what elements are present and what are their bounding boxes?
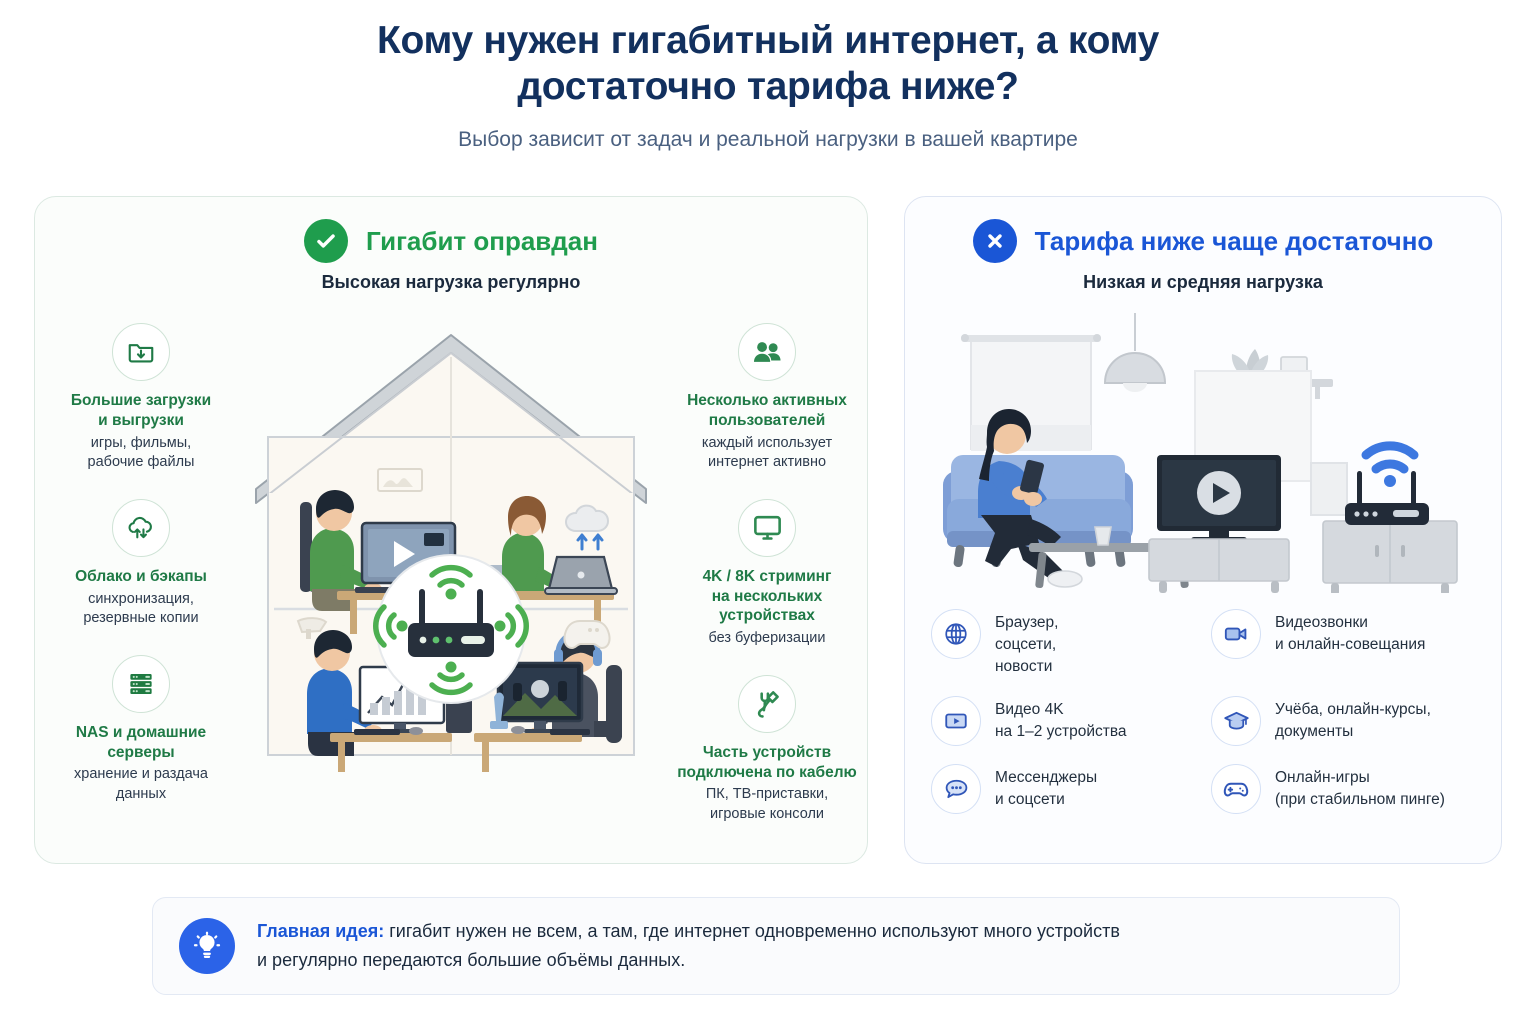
gamepad-icon — [1211, 764, 1261, 814]
feature-title: NAS и домашниесерверы — [43, 723, 239, 763]
monitor-icon — [738, 499, 796, 557]
feature-desc: синхронизация,резервные копии — [43, 590, 239, 629]
chat-bubble-icon — [931, 764, 981, 814]
feature-title: Облако и бэкапы — [43, 567, 239, 587]
item-video-calls: Видеозвонкии онлайн-совещания — [1211, 609, 1477, 678]
key-idea-callout: Главная идея: гигабит нужен не всем, а т… — [152, 897, 1400, 995]
left-panel-title: Гигабит оправдан — [366, 226, 598, 257]
folder-download-icon — [112, 323, 170, 381]
video-play-icon — [931, 696, 981, 746]
left-panel-header: Гигабит оправдан — [35, 197, 867, 263]
feature-desc: каждый используетинтернет активно — [669, 434, 865, 473]
item-label: Видео 4Kна 1–2 устройства — [995, 696, 1127, 743]
item-label: Онлайн-игры(при стабильном пинге) — [1275, 764, 1445, 811]
server-stack-icon — [112, 655, 170, 713]
item-browser-social-news: Браузер,соцсети,новости — [931, 609, 1197, 678]
lightbulb-icon — [179, 918, 235, 974]
left-panel-body: Большие загрузкии выгрузки игры, фильмы,… — [35, 309, 867, 869]
item-label: Учёба, онлайн-курсы,документы — [1275, 696, 1431, 743]
item-label: Браузер,соцсети,новости — [995, 609, 1058, 678]
cross-circle-icon — [973, 219, 1017, 263]
ethernet-cable-icon — [738, 675, 796, 733]
feature-desc: хранение и раздачаданных — [43, 765, 239, 804]
left-features-column: Большие загрузкии выгрузки игры, фильмы,… — [43, 309, 239, 869]
graduation-cap-icon — [1211, 696, 1261, 746]
feature-wired-devices: Часть устройствподключена по кабелю ПК, … — [669, 675, 865, 825]
right-panel-header: Тарифа ниже чаще достаточно — [905, 197, 1501, 263]
key-idea-label: Главная идея: — [257, 921, 384, 941]
feature-cloud-backups: Облако и бэкапы синхронизация,резервные … — [43, 499, 239, 629]
left-panel-subtitle: Высокая нагрузка регулярно — [35, 272, 867, 293]
right-panel-title: Тарифа ниже чаще достаточно — [1035, 226, 1434, 257]
feature-desc: ПК, ТВ-приставки,игровые консоли — [669, 785, 865, 824]
item-online-games: Онлайн-игры(при стабильном пинге) — [1211, 764, 1477, 814]
living-room-illustration — [905, 303, 1501, 593]
feature-title: Часть устройствподключена по кабелю — [669, 743, 865, 783]
right-features-column: Несколько активныхпользователей каждый и… — [669, 309, 865, 869]
infographic-page: Кому нужен гигабитный интернет, а кому д… — [0, 0, 1536, 1024]
feature-4k-8k-streaming: 4K / 8K стримингна несколькихустройствах… — [669, 499, 865, 649]
header: Кому нужен гигабитный интернет, а кому д… — [0, 0, 1536, 152]
panels-row: Гигабит оправдан Высокая нагрузка регуля… — [34, 196, 1502, 864]
right-panel-items-grid: Браузер,соцсети,новости Видеозвонкии онл… — [905, 593, 1501, 814]
key-idea-line1: гигабит нужен не всем, а там, где интерн… — [384, 921, 1120, 941]
item-messengers: Мессенджерыи соцсети — [931, 764, 1197, 814]
check-circle-icon — [304, 219, 348, 263]
panel-lower-tariff-enough: Тарифа ниже чаще достаточно Низкая и сре… — [904, 196, 1502, 864]
feature-desc: без буферизации — [669, 629, 865, 649]
video-camera-icon — [1211, 609, 1261, 659]
feature-nas-servers: NAS и домашниесерверы хранение и раздача… — [43, 655, 239, 805]
cloud-sync-icon — [112, 499, 170, 557]
item-study-courses: Учёба, онлайн-курсы,документы — [1211, 696, 1477, 746]
users-group-icon — [738, 323, 796, 381]
item-video-4k: Видео 4Kна 1–2 устройства — [931, 696, 1197, 746]
feature-large-downloads: Большие загрузкии выгрузки игры, фильмы,… — [43, 323, 239, 473]
key-idea-line2: и регулярно передаются большие объёмы да… — [257, 950, 685, 970]
right-panel-subtitle: Низкая и средняя нагрузка — [905, 272, 1501, 293]
feature-desc: игры, фильмы,рабочие файлы — [43, 434, 239, 473]
globe-icon — [931, 609, 981, 659]
feature-multiple-users: Несколько активныхпользователей каждый и… — [669, 323, 865, 473]
page-title: Кому нужен гигабитный интернет, а кому д… — [268, 18, 1268, 110]
item-label: Мессенджерыи соцсети — [995, 764, 1097, 811]
feature-title: Большие загрузкии выгрузки — [43, 391, 239, 431]
feature-title: Несколько активныхпользователей — [669, 391, 865, 431]
key-idea-text: Главная идея: гигабит нужен не всем, а т… — [257, 917, 1120, 975]
house-cutaway-illustration — [239, 309, 663, 869]
feature-title: 4K / 8K стримингна несколькихустройствах — [669, 567, 865, 626]
panel-gigabit-justified: Гигабит оправдан Высокая нагрузка регуля… — [34, 196, 868, 864]
page-subtitle: Выбор зависит от задач и реальной нагруз… — [0, 128, 1536, 152]
item-label: Видеозвонкии онлайн-совещания — [1275, 609, 1425, 656]
